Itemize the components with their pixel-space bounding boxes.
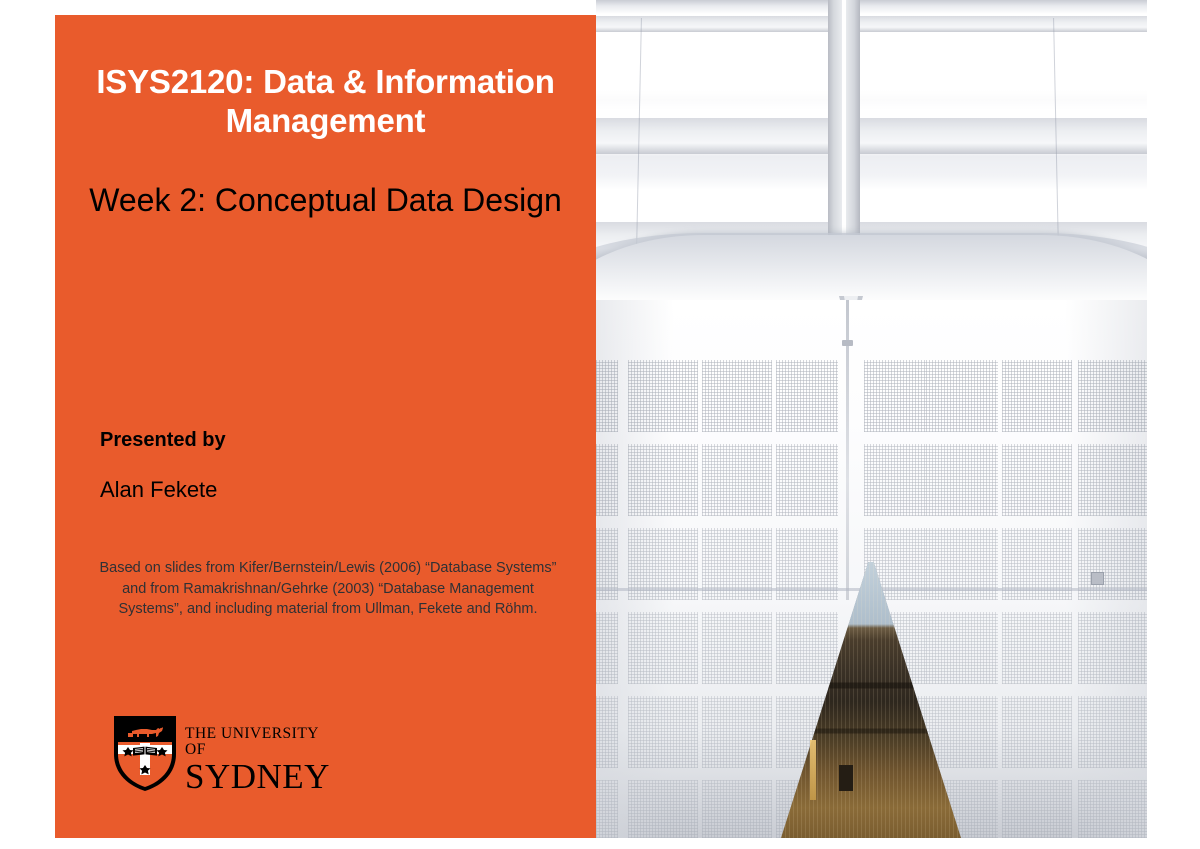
- acoustic-panel: [926, 360, 998, 432]
- acoustic-panel: [628, 780, 698, 838]
- wordmark-line-2: SYDNEY: [185, 759, 331, 795]
- interior-doorway: [839, 765, 853, 791]
- architecture-photo: [596, 0, 1147, 838]
- acoustic-panel: [1002, 444, 1072, 516]
- presented-by-label: Presented by: [100, 429, 226, 452]
- presentation-slide: ISYS2120: Data & Information Management …: [0, 0, 1200, 849]
- presenter-name: Alan Fekete: [100, 477, 217, 503]
- acoustic-panel: [1078, 780, 1147, 838]
- acoustic-panel: [1078, 696, 1147, 768]
- acoustic-panel: [628, 360, 698, 432]
- acoustic-panel: [1002, 780, 1072, 838]
- acoustic-panel: [776, 360, 838, 432]
- acoustic-panel: [776, 444, 838, 516]
- attribution-text: Based on slides from Kifer/Bernstein/Lew…: [93, 558, 563, 620]
- wall-seam-cap: [842, 340, 853, 346]
- acoustic-panel: [628, 612, 698, 684]
- acoustic-panel: [628, 444, 698, 516]
- interior-light: [810, 740, 816, 800]
- acoustic-panel: [702, 360, 772, 432]
- acoustic-panel: [1002, 360, 1072, 432]
- university-wordmark: THE UNIVERSITY OF SYDNEY: [185, 726, 331, 795]
- acoustic-panel: [596, 444, 618, 516]
- acoustic-panel: [1078, 612, 1147, 684]
- slide-subtitle: Week 2: Conceptual Data Design: [55, 180, 596, 220]
- acoustic-panel: [926, 612, 998, 684]
- acoustic-panel: [702, 612, 772, 684]
- acoustic-panel: [702, 780, 772, 838]
- acoustic-panel: [1078, 444, 1147, 516]
- acoustic-panel: [776, 612, 838, 684]
- acoustic-panel: [702, 696, 772, 768]
- page-title: ISYS2120: Data & Information Management: [55, 63, 596, 141]
- wall-fitting-icon: [1091, 572, 1104, 585]
- sydney-crest-icon: [111, 712, 179, 794]
- acoustic-panel: [1002, 612, 1072, 684]
- acoustic-panel: [864, 444, 926, 516]
- acoustic-panel: [1078, 360, 1147, 432]
- acoustic-panel: [702, 444, 772, 516]
- wordmark-line-1: THE UNIVERSITY OF: [185, 726, 331, 757]
- ceiling-beam: [596, 16, 1147, 32]
- ceiling-beam: [596, 118, 1147, 154]
- acoustic-panel: [926, 696, 998, 768]
- acoustic-panel: [628, 696, 698, 768]
- university-logo: THE UNIVERSITY OF SYDNEY: [111, 712, 331, 794]
- acoustic-panel: [596, 612, 618, 684]
- acoustic-panel: [596, 780, 618, 838]
- acoustic-panel: [864, 360, 926, 432]
- acoustic-panel: [1002, 696, 1072, 768]
- acoustic-panel: [596, 696, 618, 768]
- title-panel: ISYS2120: Data & Information Management …: [55, 15, 596, 838]
- acoustic-panel: [596, 360, 618, 432]
- acoustic-panel: [926, 444, 998, 516]
